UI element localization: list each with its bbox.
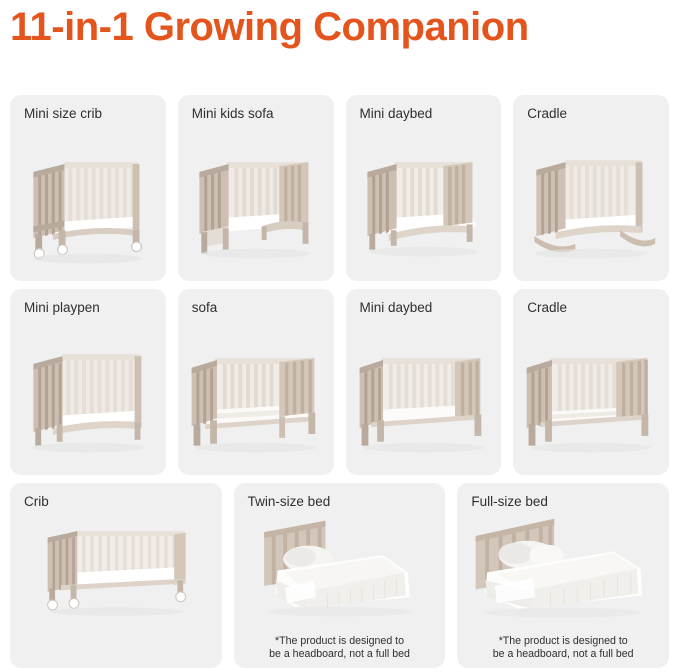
- product-card-full-size-bed[interactable]: Full-size bed: [457, 483, 669, 668]
- mini-playpen-illustration: [10, 323, 166, 469]
- mini-daybed-illustration: [346, 129, 502, 275]
- mini-size-crib-illustration: [10, 129, 166, 275]
- page-title: 11-in-1 Growing Companion: [10, 2, 529, 52]
- card-footnote: *The product is designed to be a headboa…: [242, 635, 438, 662]
- twin-size-bed-illustration: [234, 513, 446, 628]
- product-card-mini-kids-sofa[interactable]: Mini kids sofa: [178, 95, 334, 281]
- product-row-1: Mini size crib: [0, 95, 679, 281]
- card-title: Cradle: [527, 106, 567, 122]
- product-card-cradle-1[interactable]: Cradle: [513, 95, 669, 281]
- sofa-illustration: [178, 323, 334, 469]
- card-title: Cradle: [527, 300, 567, 316]
- card-title: Mini daybed: [360, 106, 433, 122]
- product-card-crib[interactable]: Crib: [10, 483, 222, 668]
- product-card-mini-size-crib[interactable]: Mini size crib: [10, 95, 166, 281]
- product-card-sofa[interactable]: sofa: [178, 289, 334, 475]
- card-title: sofa: [192, 300, 218, 316]
- full-size-bed-illustration: [457, 513, 669, 628]
- card-title: Mini kids sofa: [192, 106, 274, 122]
- mini-kids-sofa-illustration: [178, 129, 334, 275]
- crib-illustration: [10, 513, 222, 628]
- cradle-illustration: [513, 129, 669, 275]
- card-title: Twin-size bed: [248, 494, 331, 510]
- card-title: Mini size crib: [24, 106, 102, 122]
- product-card-twin-size-bed[interactable]: Twin-size bed: [234, 483, 446, 668]
- product-card-mini-daybed-1[interactable]: Mini daybed: [346, 95, 502, 281]
- product-row-2: Mini playpen: [0, 289, 679, 475]
- product-card-mini-playpen[interactable]: Mini playpen: [10, 289, 166, 475]
- card-footnote: *The product is designed to be a headboa…: [465, 635, 661, 662]
- product-card-mini-daybed-2[interactable]: Mini daybed: [346, 289, 502, 475]
- card-title: Full-size bed: [471, 494, 548, 510]
- mini-daybed-2-illustration: [346, 323, 502, 469]
- cradle-2-illustration: [513, 323, 669, 469]
- card-title: Mini daybed: [360, 300, 433, 316]
- product-row-3: Crib: [0, 483, 679, 668]
- card-title: Crib: [24, 494, 49, 510]
- infographic-page: 11-in-1 Growing Companion Mini size crib: [0, 0, 679, 672]
- product-card-cradle-2[interactable]: Cradle: [513, 289, 669, 475]
- card-title: Mini playpen: [24, 300, 100, 316]
